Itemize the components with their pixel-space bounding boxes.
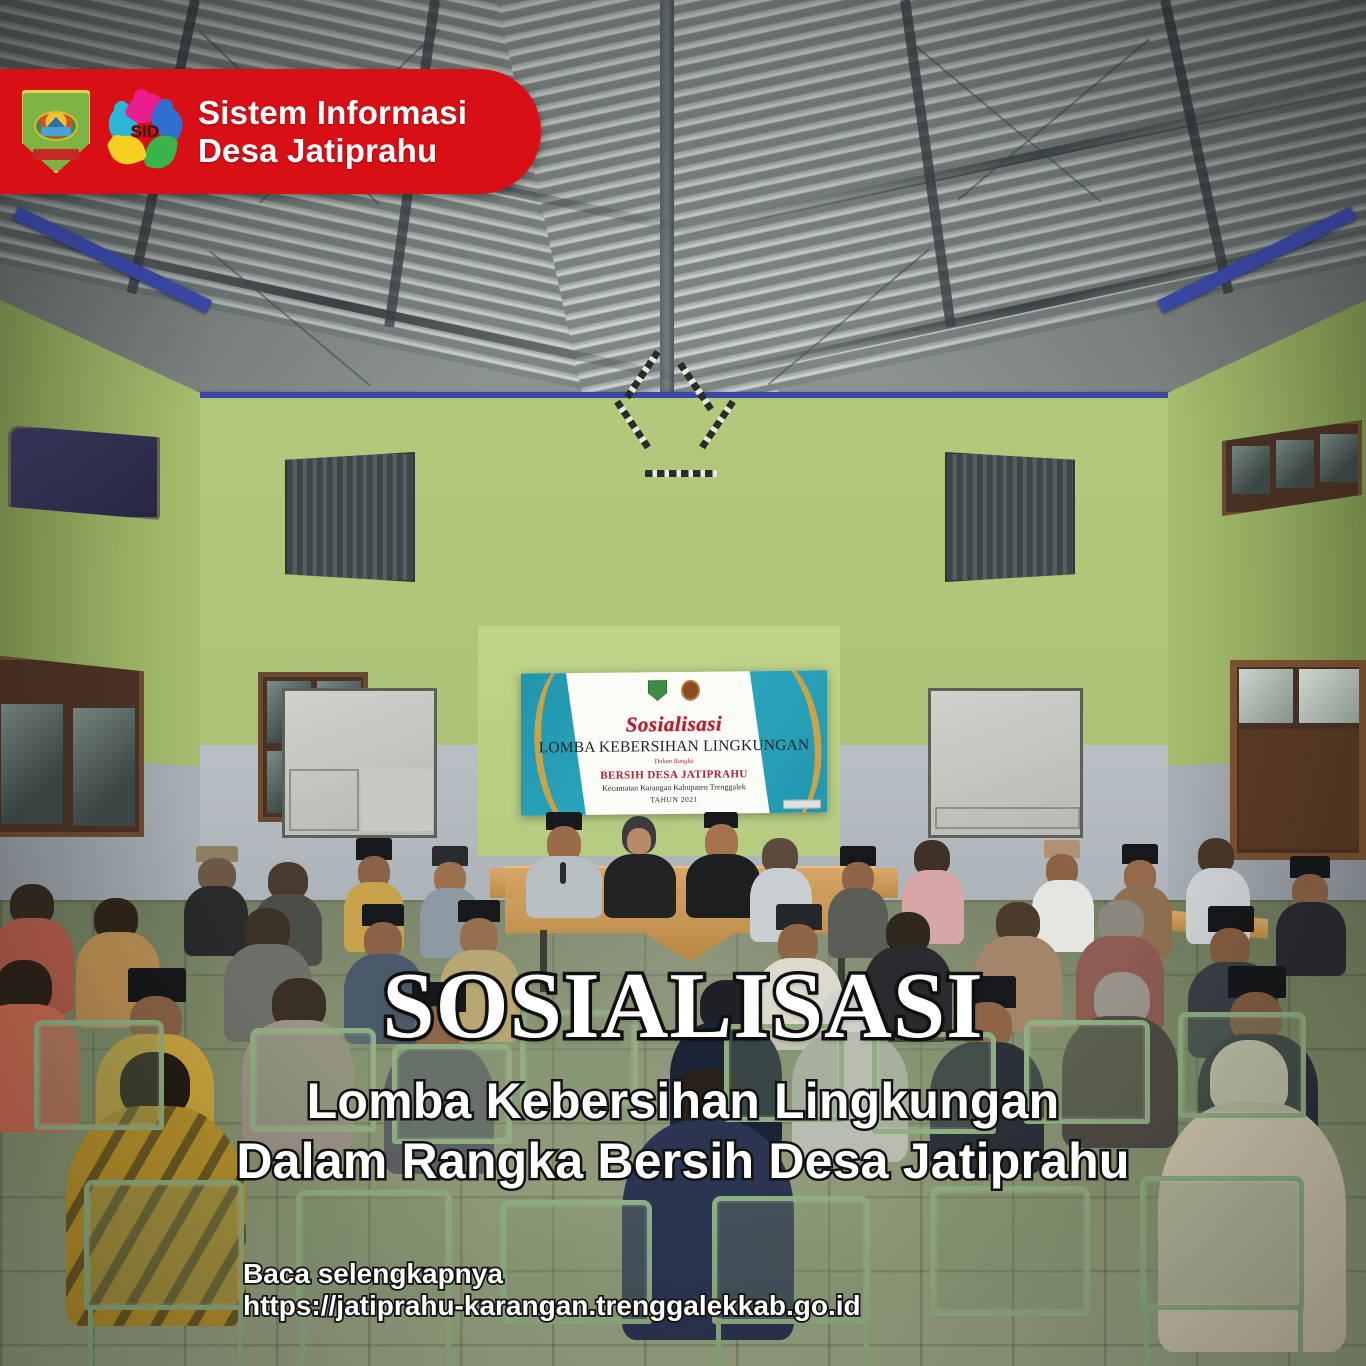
banner-eyebrow: Sosialisasi [521,710,827,738]
poster-subtitle-2: Dalam Rangka Bersih Desa Jatiprahu [0,1136,1366,1186]
site-title-line1: Sistem Informasi [198,94,467,132]
microphone-icon [560,862,566,884]
banner-print-tag [783,799,821,808]
chair-leg [1144,1304,1149,1366]
back-wall-pale-panel-left [282,688,437,838]
banner-headline: LOMBA KEBERSIHAN LINGKUNGAN [521,736,827,757]
sid-logo-text: SID [131,122,159,142]
back-wall-pale-panel-right [928,688,1083,838]
site-brand-header[interactable]: SID Sistem Informasi Desa Jatiprahu [0,69,541,194]
event-banner: Sosialisasi LOMBA KEBERSIHAN LINGKUNGAN … [521,670,827,815]
left-wall-window [0,655,144,837]
pentagon-vent-block-decoration-icon [615,358,745,483]
chair [84,1180,244,1310]
poster-title: SOSIALISASI [0,959,1366,1053]
poster-footer: Baca selengkapnya https://jatiprahu-kara… [243,1258,861,1323]
green-shield-crest-icon [648,680,667,701]
poster-subtitle-1: Lomba Kebersihan Lingkungan [0,1076,1366,1126]
chair [930,1186,1090,1316]
chair [1140,1176,1304,1310]
poster-canvas: Sosialisasi LOMBA KEBERSIHAN LINGKUNGAN … [0,0,1366,1366]
chair-leg [1298,1304,1303,1366]
footer-cta: Baca selengkapnya [243,1258,861,1290]
chair-leg [716,1318,721,1366]
right-wall-window [1230,660,1366,860]
sid-people-circle-logo-icon: SID [106,93,184,171]
trenggalek-regency-crest-icon [20,90,92,174]
round-gold-seal-icon [681,680,700,701]
chair-leg [88,1306,93,1366]
site-title: Sistem Informasi Desa Jatiprahu [198,94,467,169]
footer-url[interactable]: https://jatiprahu-karangan.trenggalekkab… [243,1290,861,1322]
site-title-line2: Desa Jatiprahu [198,132,467,170]
chair-leg [864,1318,869,1366]
back-wall-vent-left [285,452,415,582]
banner-logo-row [521,678,827,702]
left-wall-high-panel [8,425,160,520]
back-wall-vent-right [945,452,1075,582]
